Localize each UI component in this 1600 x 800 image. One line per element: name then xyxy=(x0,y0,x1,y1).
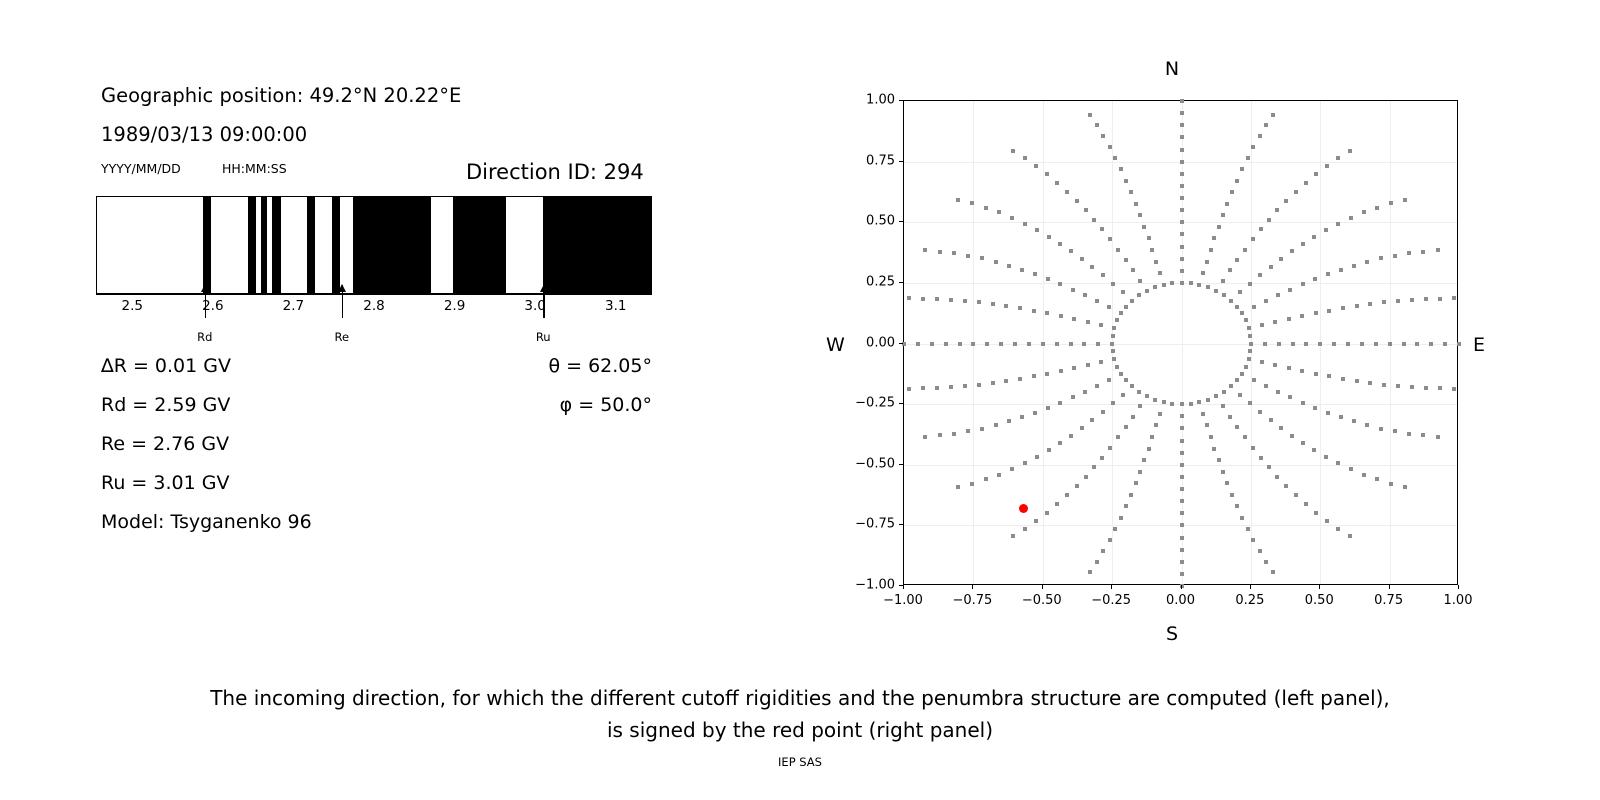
direction-dot xyxy=(1180,414,1184,418)
direction-dot xyxy=(1300,314,1304,318)
direction-dot xyxy=(1065,493,1069,497)
direction-dot xyxy=(1332,342,1336,346)
direction-dot xyxy=(1382,300,1386,304)
direction-dot xyxy=(984,206,988,210)
direction-dot xyxy=(1119,167,1123,171)
direction-dot xyxy=(1112,326,1116,330)
direction-dot xyxy=(1258,273,1262,277)
direction-dot xyxy=(1032,309,1036,313)
direction-dot xyxy=(1379,427,1383,431)
direction-dot xyxy=(1228,415,1232,419)
direction-dot xyxy=(956,485,960,489)
direction-dot xyxy=(1324,455,1328,459)
direction-dot xyxy=(1235,504,1239,508)
angle-line: θ = 62.05° xyxy=(420,355,652,377)
direction-dot xyxy=(1249,342,1253,346)
direction-dot xyxy=(1153,398,1157,402)
direction-dot xyxy=(991,302,995,306)
direction-dot xyxy=(1248,282,1252,286)
direction-dot xyxy=(935,297,939,301)
direction-dot xyxy=(1288,288,1292,292)
direction-dot xyxy=(1069,342,1073,346)
direction-dot xyxy=(1130,299,1134,303)
direction-dot xyxy=(921,386,925,390)
direction-dot xyxy=(1221,279,1225,283)
direction-dot xyxy=(1090,418,1094,422)
direction-dot xyxy=(1235,305,1239,309)
direction-dot xyxy=(1206,398,1210,402)
direction-dot xyxy=(1312,235,1316,239)
direction-dot xyxy=(1327,309,1331,313)
direction-dot xyxy=(1129,493,1133,497)
direction-dot xyxy=(1269,265,1273,269)
direction-dot xyxy=(1180,281,1184,285)
direction-dot xyxy=(1147,236,1151,240)
direction-dot xyxy=(1084,208,1088,212)
direction-dot xyxy=(963,384,967,388)
direction-dot xyxy=(1080,426,1084,430)
direction-dot xyxy=(923,435,927,439)
direction-dot xyxy=(1069,249,1073,253)
penumbra-band xyxy=(543,197,652,293)
time-format-hint: HH:MM:SS xyxy=(222,161,287,176)
direction-dot xyxy=(1058,282,1062,286)
direction-dot xyxy=(1116,435,1120,439)
direction-dot xyxy=(1277,342,1281,346)
direction-dot xyxy=(1111,401,1115,405)
direction-dot xyxy=(1124,179,1128,183)
direction-dot xyxy=(1059,369,1063,373)
direction-dot xyxy=(1092,465,1096,469)
direction-dot xyxy=(1365,260,1369,264)
direction-dot xyxy=(1045,172,1049,176)
direction-dot xyxy=(923,248,927,252)
direction-dot xyxy=(1251,145,1255,149)
direction-dot xyxy=(1260,323,1264,327)
direction-dot xyxy=(1147,447,1151,451)
plot-xtick-mark xyxy=(1458,585,1459,589)
direction-dot xyxy=(1071,395,1075,399)
direction-dot xyxy=(1162,283,1166,287)
direction-dot xyxy=(1235,179,1239,183)
direction-dot xyxy=(1086,320,1090,324)
direction-dot xyxy=(1092,218,1096,222)
direction-dot xyxy=(1217,225,1221,229)
direction-dot xyxy=(1284,484,1288,488)
direction-dot xyxy=(1134,481,1138,485)
direction-dot xyxy=(1318,342,1322,346)
direction-dot xyxy=(1180,123,1184,127)
direction-dot xyxy=(1279,257,1283,261)
direction-dot xyxy=(1180,548,1184,552)
direction-dot xyxy=(1243,248,1247,252)
direction-dot xyxy=(1138,404,1142,408)
selected-direction-point xyxy=(1019,504,1028,513)
direction-dot xyxy=(1259,227,1263,231)
direction-dot xyxy=(1301,242,1305,246)
direction-dot xyxy=(1355,304,1359,308)
direction-dot xyxy=(1095,123,1099,127)
direction-dot xyxy=(1206,285,1210,289)
direction-dot xyxy=(1119,372,1123,376)
direction-dot xyxy=(1410,298,1414,302)
caption-line-2: is signed by the red point (right panel) xyxy=(607,718,993,742)
direction-dot xyxy=(1180,245,1184,249)
plot-ytick-label: 0.25 xyxy=(866,274,895,289)
datetime-text: 1989/03/13 09:00:00 xyxy=(101,123,307,146)
parameter-line: Ru = 3.01 GV xyxy=(101,472,229,494)
direction-dot xyxy=(1129,190,1133,194)
direction-plot: −1.00−0.75−0.50−0.250.000.250.500.751.00… xyxy=(903,100,1458,585)
direction-dot xyxy=(1244,365,1248,369)
direction-dot xyxy=(1033,272,1037,276)
direction-dot xyxy=(944,342,948,346)
direction-dot xyxy=(1221,470,1225,474)
direction-dot xyxy=(1154,423,1158,427)
plot-xtick-label: 1.00 xyxy=(1444,593,1473,608)
penumbra-xtick-label: 3.1 xyxy=(605,298,626,314)
direction-dot xyxy=(1007,419,1011,423)
direction-dot xyxy=(1124,425,1128,429)
arrow-up-icon xyxy=(338,284,346,292)
direction-dot xyxy=(1214,394,1218,398)
direction-dot xyxy=(1023,527,1027,531)
direction-dot xyxy=(1252,378,1256,382)
direction-dot xyxy=(1108,538,1112,542)
direction-dot xyxy=(1336,527,1340,531)
direction-dot xyxy=(1365,423,1369,427)
direction-dot xyxy=(1273,320,1277,324)
direction-dot xyxy=(1046,406,1050,410)
direction-dot xyxy=(1393,254,1397,258)
direction-dot xyxy=(1252,305,1256,309)
direction-dot xyxy=(1197,400,1201,404)
plot-ytick-mark xyxy=(899,282,903,283)
direction-dot xyxy=(1032,374,1036,378)
direction-dot xyxy=(1244,318,1248,322)
direction-dot xyxy=(1180,148,1184,152)
direction-dot xyxy=(1314,172,1318,176)
direction-dot xyxy=(1088,570,1092,574)
plot-xtick-label: −0.50 xyxy=(1022,593,1062,608)
direction-dot xyxy=(1352,419,1356,423)
plot-xtick-mark xyxy=(972,585,973,589)
direction-dot xyxy=(1276,390,1280,394)
direction-dot xyxy=(1111,349,1115,353)
direction-dot xyxy=(1170,402,1174,406)
direction-dot xyxy=(1374,342,1378,346)
direction-dot xyxy=(1201,271,1205,275)
penumbra-xtick-label: 2.9 xyxy=(444,298,465,314)
direction-dot xyxy=(966,429,970,433)
direction-dot xyxy=(1240,372,1244,376)
direction-dot xyxy=(1075,199,1079,203)
direction-dot xyxy=(1275,208,1279,212)
direction-dot xyxy=(985,342,989,346)
direction-dot xyxy=(1162,400,1166,404)
direction-dot xyxy=(1150,435,1154,439)
direction-dot xyxy=(1304,502,1308,506)
direction-dot xyxy=(1101,134,1105,138)
direction-dot xyxy=(1150,248,1154,252)
direction-dot xyxy=(921,297,925,301)
plot-ytick-mark xyxy=(899,524,903,525)
direction-dot xyxy=(1375,477,1379,481)
direction-dot xyxy=(949,298,953,302)
plot-ytick-label: −0.50 xyxy=(855,456,895,471)
direction-dot xyxy=(907,387,911,391)
direction-dot xyxy=(1045,311,1049,315)
direction-dot xyxy=(1180,196,1184,200)
plot-ytick-label: 0.50 xyxy=(866,214,895,229)
direction-dot xyxy=(1326,272,1330,276)
direction-dot xyxy=(1180,439,1184,443)
direction-dot xyxy=(1424,386,1428,390)
direction-dot xyxy=(1264,123,1268,127)
direction-dot xyxy=(1221,213,1225,217)
direction-dot xyxy=(1438,297,1442,301)
plot-xtick-mark xyxy=(1111,585,1112,589)
direction-dot xyxy=(1421,250,1425,254)
direction-dot xyxy=(1436,248,1440,252)
direction-dot xyxy=(1228,268,1232,272)
direction-dot xyxy=(1180,463,1184,467)
direction-dot xyxy=(1313,406,1317,410)
direction-dot xyxy=(1045,511,1049,515)
direction-dot xyxy=(1071,288,1075,292)
direction-dot xyxy=(1403,198,1407,202)
direction-dot xyxy=(999,342,1003,346)
direction-dot xyxy=(1055,181,1059,185)
direction-dot xyxy=(1108,237,1112,241)
direction-dot xyxy=(1086,363,1090,367)
direction-dot xyxy=(1402,342,1406,346)
direction-dot xyxy=(1180,160,1184,164)
direction-dot xyxy=(1214,289,1218,293)
direction-id-text: Direction ID: 294 xyxy=(466,160,644,184)
direction-dot xyxy=(1273,363,1277,367)
direction-dot xyxy=(1137,390,1141,394)
direction-dot xyxy=(1007,264,1011,268)
direction-dot xyxy=(966,254,970,258)
direction-dot xyxy=(1100,227,1104,231)
direction-dot xyxy=(1288,395,1292,399)
penumbra-marker-label: Re xyxy=(334,330,349,344)
direction-dot xyxy=(1180,560,1184,564)
direction-dot xyxy=(1099,323,1103,327)
direction-dot xyxy=(1113,527,1117,531)
direction-dot xyxy=(1158,412,1162,416)
compass-label-west: W xyxy=(826,334,845,356)
direction-dot xyxy=(1145,289,1149,293)
direction-dot xyxy=(1314,311,1318,315)
plot-xtick-mark xyxy=(1042,585,1043,589)
direction-dot xyxy=(1301,441,1305,445)
direction-dot xyxy=(1301,401,1305,405)
compass-label-east: E xyxy=(1473,334,1485,356)
direction-dot xyxy=(1010,467,1014,471)
direction-dot xyxy=(971,342,975,346)
direction-dot xyxy=(994,423,998,427)
direction-dot xyxy=(1180,232,1184,236)
direction-dot xyxy=(1247,357,1251,361)
plot-xtick-mark xyxy=(1319,585,1320,589)
direction-dot xyxy=(1131,415,1135,419)
direction-dot xyxy=(952,251,956,255)
direction-dot xyxy=(1339,415,1343,419)
direction-dot xyxy=(1033,411,1037,415)
direction-dot xyxy=(1180,257,1184,261)
direction-dot xyxy=(1248,334,1252,338)
direction-dot xyxy=(1180,135,1184,139)
direction-dot xyxy=(1276,293,1280,297)
direction-dot xyxy=(980,256,984,260)
direction-dot xyxy=(1403,485,1407,489)
direction-dot xyxy=(1235,378,1239,382)
direction-dot xyxy=(1121,393,1125,397)
direction-dot xyxy=(994,260,998,264)
direction-dot xyxy=(1055,342,1059,346)
compass-label-north: N xyxy=(1165,58,1179,80)
direction-dot xyxy=(1045,372,1049,376)
direction-dot xyxy=(997,210,1001,214)
penumbra-bar xyxy=(96,196,652,294)
direction-dot xyxy=(1047,235,1051,239)
direction-dot xyxy=(1424,297,1428,301)
direction-dot xyxy=(1326,411,1330,415)
direction-dot xyxy=(1230,493,1234,497)
direction-dot xyxy=(1004,304,1008,308)
plot-ytick-mark xyxy=(899,403,903,404)
direction-dot xyxy=(1212,236,1216,240)
direction-dot xyxy=(1229,384,1233,388)
direction-dot xyxy=(1115,365,1119,369)
direction-dot xyxy=(1047,448,1051,452)
direction-dot xyxy=(1258,410,1262,414)
direction-dot xyxy=(1180,220,1184,224)
direction-dot xyxy=(1235,258,1239,262)
parameter-line: Re = 2.76 GV xyxy=(101,433,229,455)
direction-dot xyxy=(991,381,995,385)
plot-xtick-mark xyxy=(903,585,904,589)
penumbra-band xyxy=(307,197,315,293)
direction-dot xyxy=(1251,446,1255,450)
direction-dot xyxy=(1349,216,1353,220)
direction-dot xyxy=(1205,260,1209,264)
direction-dot xyxy=(1058,441,1062,445)
plot-ytick-mark xyxy=(899,464,903,465)
direction-dot xyxy=(1142,458,1146,462)
direction-dot xyxy=(1313,277,1317,281)
direction-dot xyxy=(1290,434,1294,438)
penumbra-band xyxy=(261,197,267,293)
plot-xtick-label: 0.25 xyxy=(1235,593,1264,608)
direction-dot xyxy=(1107,305,1111,309)
angle-line: φ = 50.0° xyxy=(420,394,652,416)
direction-dot xyxy=(935,386,939,390)
direction-dot xyxy=(1275,475,1279,479)
direction-dot xyxy=(1269,418,1273,422)
direction-dot xyxy=(1101,273,1105,277)
direction-dot xyxy=(997,473,1001,477)
direction-dot xyxy=(1023,156,1027,160)
direction-dot xyxy=(1415,342,1419,346)
direction-dot xyxy=(952,432,956,436)
plot-xtick-label: −0.75 xyxy=(952,593,992,608)
direction-dot xyxy=(1072,366,1076,370)
direction-dot xyxy=(1041,342,1045,346)
direction-dot xyxy=(1287,366,1291,370)
direction-dot xyxy=(1201,412,1205,416)
geographic-position-text: Geographic position: 49.2°N 20.22°E xyxy=(101,84,461,107)
plot-xtick-label: 0.50 xyxy=(1305,593,1334,608)
direction-dot xyxy=(1457,342,1461,346)
direction-dot xyxy=(916,342,920,346)
direction-dot xyxy=(1312,448,1316,452)
direction-dot xyxy=(1154,260,1158,264)
direction-dot xyxy=(963,299,967,303)
direction-dot xyxy=(1108,446,1112,450)
direction-dot xyxy=(1348,149,1352,153)
direction-dot xyxy=(1084,475,1088,479)
direction-dot xyxy=(1112,357,1116,361)
direction-dot xyxy=(1407,432,1411,436)
direction-dot xyxy=(1124,305,1128,309)
direction-dot xyxy=(1294,190,1298,194)
direction-dot xyxy=(938,433,942,437)
direction-dot xyxy=(1180,511,1184,515)
direction-dot xyxy=(1180,536,1184,540)
direction-dot xyxy=(1324,228,1328,232)
direction-dot xyxy=(1137,293,1141,297)
direction-dot xyxy=(1083,390,1087,394)
direction-dot xyxy=(1304,342,1308,346)
direction-dot xyxy=(1180,475,1184,479)
direction-dot xyxy=(1170,281,1174,285)
direction-dot xyxy=(1095,299,1099,303)
direction-dot xyxy=(1119,311,1123,315)
direction-dot xyxy=(1018,377,1022,381)
direction-dot xyxy=(1436,435,1440,439)
direction-dot xyxy=(1410,385,1414,389)
direction-dot xyxy=(1248,401,1252,405)
direction-dot xyxy=(1180,111,1184,115)
direction-dot xyxy=(1124,504,1128,508)
direction-dot xyxy=(1020,415,1024,419)
direction-dot xyxy=(1375,206,1379,210)
direction-dot xyxy=(1180,208,1184,212)
direction-dot xyxy=(1246,156,1250,160)
direction-dot xyxy=(1429,342,1433,346)
direction-dot xyxy=(1393,429,1397,433)
direction-dot xyxy=(1264,384,1268,388)
direction-dot xyxy=(1180,99,1184,103)
penumbra-band xyxy=(248,197,256,293)
direction-dot xyxy=(1267,218,1271,222)
direction-dot xyxy=(1327,374,1331,378)
plot-ytick-mark xyxy=(899,100,903,101)
direction-dot xyxy=(1314,511,1318,515)
direction-dot xyxy=(1095,384,1099,388)
direction-dot xyxy=(1229,299,1233,303)
direction-dot xyxy=(1258,549,1262,553)
direction-dot xyxy=(1336,156,1340,160)
direction-dot xyxy=(1111,334,1115,338)
direction-dot xyxy=(1138,470,1142,474)
direction-dot xyxy=(1284,199,1288,203)
direction-dot xyxy=(1101,549,1105,553)
direction-dot xyxy=(1225,202,1229,206)
